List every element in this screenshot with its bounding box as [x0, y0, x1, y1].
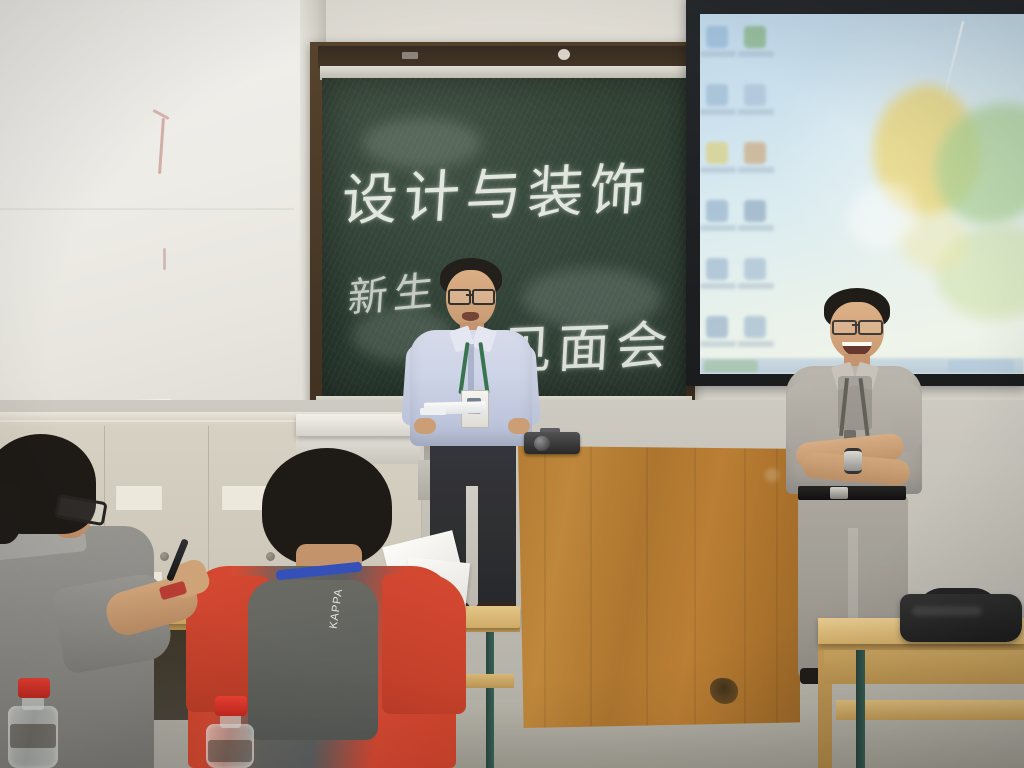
standing-man-glasses-bridge: [852, 324, 860, 326]
speaker-mouth: [462, 312, 479, 321]
desktop-icon[interactable]: [706, 26, 728, 48]
classroom-photo: 设计与装饰 新生 见面会: [0, 0, 1024, 768]
desktop-icon-label: [700, 225, 736, 231]
whiteboard-red-mark-lower: [163, 248, 166, 270]
desktop-icon-label: [738, 51, 774, 57]
whiteboard-seam: [0, 208, 294, 210]
wristwatch-icon: [844, 448, 862, 474]
standing-man-belt-buckle: [830, 487, 848, 499]
chalkboard-top-rail: [318, 46, 690, 68]
desktop-icon[interactable]: [706, 142, 728, 164]
standing-man-glasses-lens-right: [858, 320, 883, 335]
student-center-sleeve-right: [382, 574, 466, 714]
chalkboard-clip: [402, 52, 418, 59]
speaker-glasses-bridge: [466, 294, 474, 296]
desk-center-leg: [486, 628, 494, 768]
desktop-icon-label: [738, 109, 774, 115]
speaker-hand-left: [414, 418, 436, 434]
desktop-icon[interactable]: [706, 258, 728, 280]
water-bottle-right-cap: [215, 696, 247, 716]
desktop-icon-label: [738, 341, 774, 347]
speaker-glasses-lens-right: [472, 289, 495, 305]
desktop-icon-label: [700, 109, 736, 115]
shoulder-bag: [900, 594, 1022, 642]
desktop-icon[interactable]: [744, 316, 766, 338]
wooden-panel: [518, 446, 800, 728]
student-center-jersey-panel: [248, 580, 378, 740]
desktop-icon-label: [738, 225, 774, 231]
chalkboard-title-text: 设计与装饰: [339, 144, 654, 237]
chalkboard-magnet: [558, 49, 570, 60]
desktop-icon-label: [700, 167, 736, 173]
water-bottle-right-label: [208, 740, 252, 762]
desktop-icon-label: [700, 51, 736, 57]
desktop-icon-label: [738, 283, 774, 289]
bag-highlight: [912, 606, 982, 616]
system-tray[interactable]: [948, 360, 1014, 372]
desktop-icon[interactable]: [706, 316, 728, 338]
desktop-icon[interactable]: [706, 200, 728, 222]
camera-icon: [524, 432, 580, 454]
desktop-icon-label: [738, 167, 774, 173]
desktop-icon[interactable]: [744, 142, 766, 164]
desktop-icon-label: [700, 283, 736, 289]
desk-right-leg: [856, 644, 865, 768]
desktop-icon[interactable]: [744, 200, 766, 222]
paper-on-podium-2: [420, 408, 446, 415]
desktop-icon[interactable]: [706, 84, 728, 106]
standing-man-glasses-lens-left: [832, 320, 857, 335]
standing-man-belt: [798, 486, 906, 500]
water-bottle-left-cap: [18, 678, 50, 698]
desk-right-front-panel: [824, 648, 1024, 684]
speaker-leg-gap: [466, 486, 478, 614]
whiteboard: [0, 0, 312, 428]
desktop-icon[interactable]: [744, 26, 766, 48]
camera-lens: [534, 436, 550, 451]
desktop-icon[interactable]: [744, 258, 766, 280]
desktop-icon[interactable]: [744, 84, 766, 106]
wooden-panel-hole: [710, 678, 738, 704]
speaker-glasses-lens-left: [448, 289, 471, 305]
water-bottle-left-label: [10, 724, 56, 748]
start-button[interactable]: [704, 360, 758, 372]
wooden-panel-scuff: [765, 468, 779, 482]
desktop-icon-label: [700, 341, 736, 347]
